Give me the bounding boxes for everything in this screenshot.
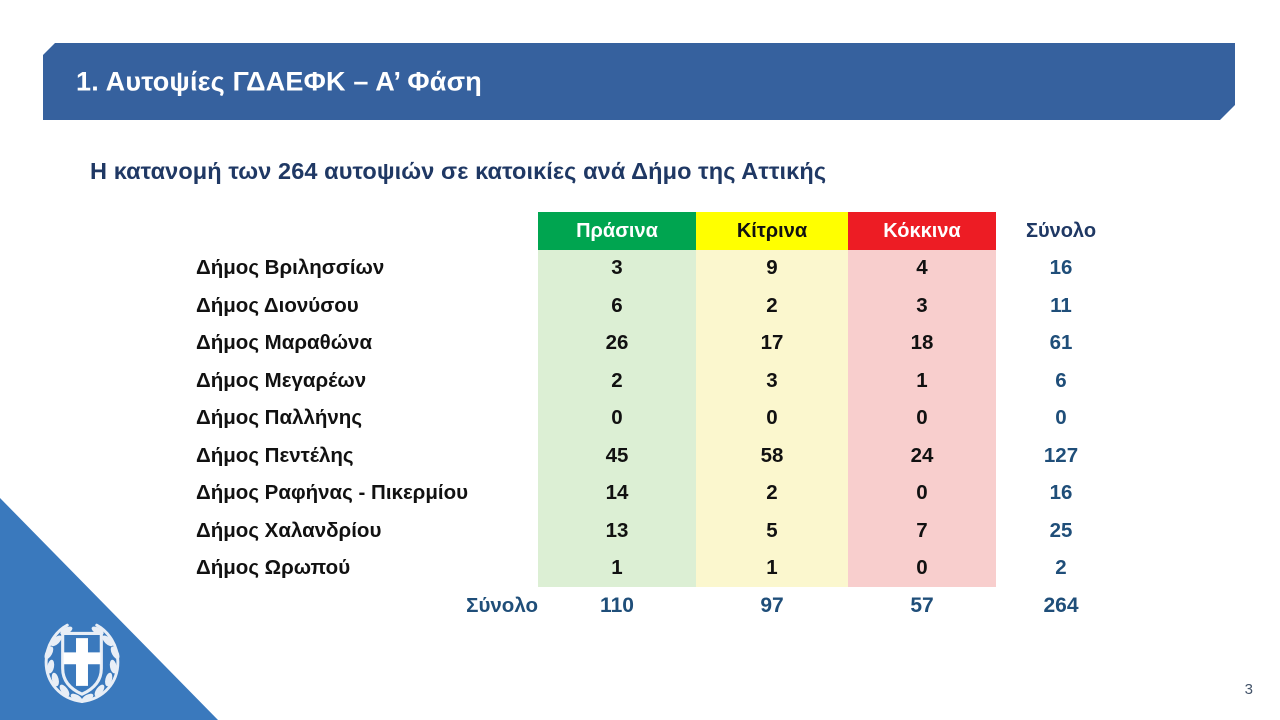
table-footer: Σύνολο 110 97 57 264 [196,587,1126,625]
row-label: Δήμος Μεγαρέων [196,362,538,400]
cell-green: 3 [538,250,696,288]
cell-yellow: 17 [696,325,848,363]
table-header: Πράσινα Κίτρινα Κόκκινα Σύνολο [196,212,1126,250]
title-banner: 1. Αυτοψίες ΓΔΑΕΦΚ – Α’ Φάση [43,43,1235,120]
cell-total: 0 [996,400,1126,438]
row-label: Δήμος Βριλησσίων [196,250,538,288]
totals-green: 110 [538,587,696,625]
cell-total: 127 [996,437,1126,475]
header-total: Σύνολο [996,212,1126,250]
cell-yellow: 2 [696,287,848,325]
table-row: Δήμος Παλλήνης0000 [196,400,1126,438]
header-yellow: Κίτρινα [696,212,848,250]
cell-green: 1 [538,550,696,588]
cell-yellow: 3 [696,362,848,400]
cell-yellow: 58 [696,437,848,475]
cell-green: 26 [538,325,696,363]
cell-red: 0 [848,400,996,438]
table-row: Δήμος Ραφήνας - Πικερμίου142016 [196,475,1126,513]
cell-green: 45 [538,437,696,475]
table-row: Δήμος Διονύσου62311 [196,287,1126,325]
cell-total: 16 [996,250,1126,288]
subtitle: Η κατανομή των 264 αυτοψιών σε κατοικίες… [90,158,826,185]
cell-red: 1 [848,362,996,400]
page-number: 3 [1245,681,1253,698]
cell-red: 0 [848,550,996,588]
cell-red: 18 [848,325,996,363]
cell-green: 2 [538,362,696,400]
table-row: Δήμος Ωρωπού1102 [196,550,1126,588]
cell-yellow: 2 [696,475,848,513]
row-label: Δήμος Πεντέλης [196,437,538,475]
slide: 1. Αυτοψίες ΓΔΑΕΦΚ – Α’ Φάση Η κατανομή … [0,0,1280,720]
cell-red: 7 [848,512,996,550]
header-green: Πράσινα [538,212,696,250]
table-row: Δήμος Χαλανδρίου135725 [196,512,1126,550]
totals-label: Σύνολο [196,587,538,625]
table-container: Πράσινα Κίτρινα Κόκκινα Σύνολο Δήμος Βρι… [196,212,1126,625]
row-label: Δήμος Ωρωπού [196,550,538,588]
cell-yellow: 9 [696,250,848,288]
table-header-row: Πράσινα Κίτρινα Κόκκινα Σύνολο [196,212,1126,250]
cell-total: 6 [996,362,1126,400]
row-label: Δήμος Χαλανδρίου [196,512,538,550]
cell-red: 3 [848,287,996,325]
header-red: Κόκκινα [848,212,996,250]
cell-total: 25 [996,512,1126,550]
cell-total: 11 [996,287,1126,325]
table-row: Δήμος Βριλησσίων39416 [196,250,1126,288]
municipality-inspection-table: Πράσινα Κίτρινα Κόκκινα Σύνολο Δήμος Βρι… [196,212,1126,625]
cell-yellow: 5 [696,512,848,550]
cell-total: 16 [996,475,1126,513]
row-label: Δήμος Μαραθώνα [196,325,538,363]
row-label: Δήμος Ραφήνας - Πικερμίου [196,475,538,513]
totals-sum: 264 [996,587,1126,625]
cell-red: 4 [848,250,996,288]
cell-total: 2 [996,550,1126,588]
cell-green: 14 [538,475,696,513]
cell-total: 61 [996,325,1126,363]
totals-yellow: 97 [696,587,848,625]
totals-red: 57 [848,587,996,625]
greek-coat-of-arms-icon [36,616,128,708]
table-row: Δήμος Μαραθώνα26171861 [196,325,1126,363]
cell-green: 0 [538,400,696,438]
table-body: Δήμος Βριλησσίων39416Δήμος Διονύσου62311… [196,250,1126,588]
table-row: Δήμος Μεγαρέων2316 [196,362,1126,400]
cell-green: 13 [538,512,696,550]
totals-row: Σύνολο 110 97 57 264 [196,587,1126,625]
row-label: Δήμος Παλλήνης [196,400,538,438]
header-label-blank [196,212,538,250]
table-row: Δήμος Πεντέλης455824127 [196,437,1126,475]
cell-yellow: 1 [696,550,848,588]
cell-red: 24 [848,437,996,475]
cell-green: 6 [538,287,696,325]
page-title: 1. Αυτοψίες ΓΔΑΕΦΚ – Α’ Φάση [76,66,482,97]
cell-yellow: 0 [696,400,848,438]
cell-red: 0 [848,475,996,513]
row-label: Δήμος Διονύσου [196,287,538,325]
